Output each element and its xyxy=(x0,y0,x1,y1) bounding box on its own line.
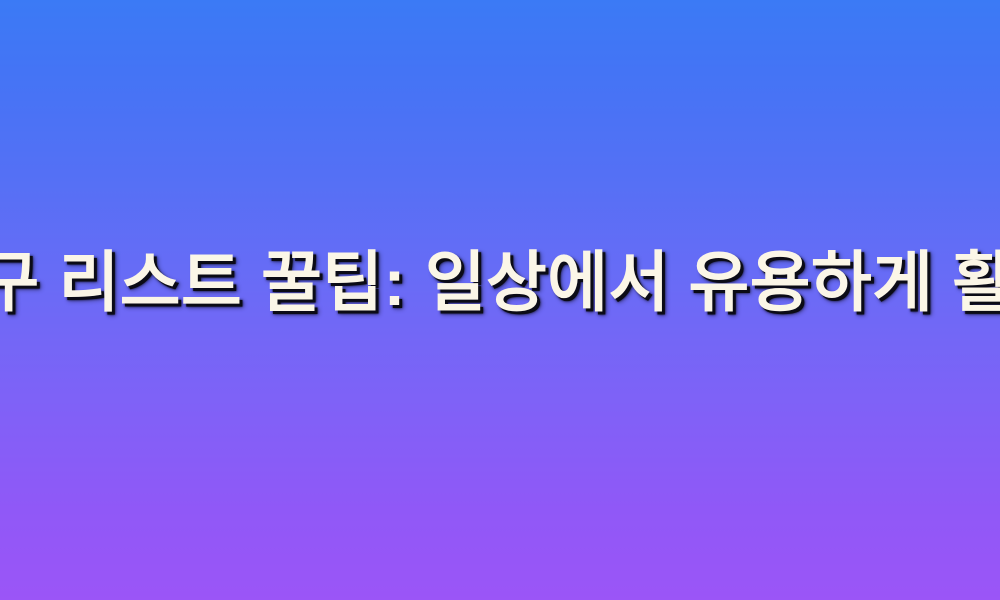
headline-container: 구 리스트 꿀팁: 일상에서 유용하게 활 xyxy=(0,0,1000,566)
banner-canvas: 구 리스트 꿀팁: 일상에서 유용하게 활 xyxy=(0,0,1000,600)
banner-headline: 구 리스트 꿀팁: 일상에서 유용하게 활 xyxy=(0,246,1000,320)
